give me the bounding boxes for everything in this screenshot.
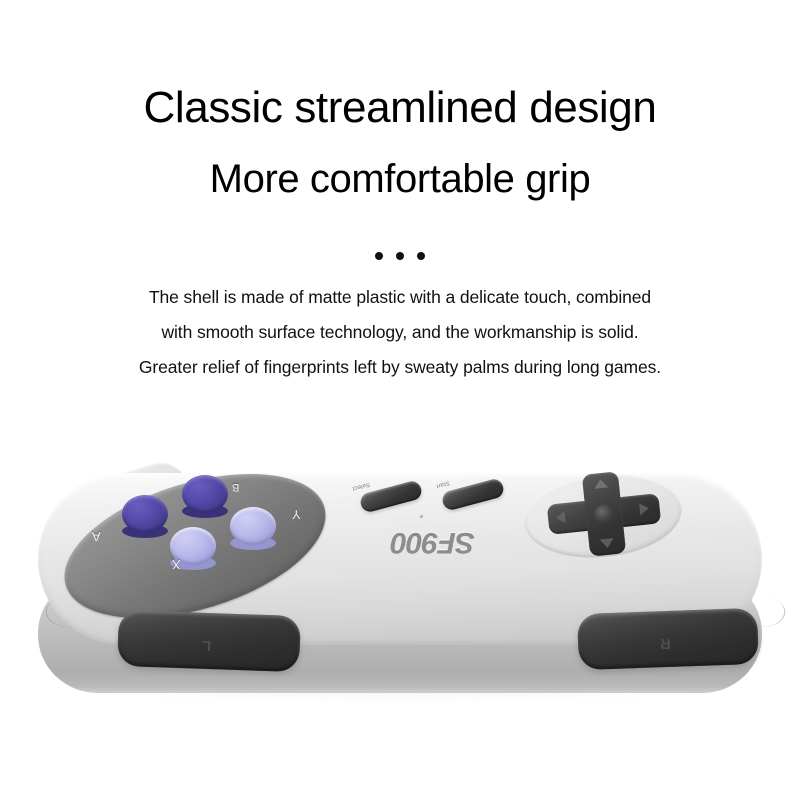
face-button-label-y: Y <box>292 507 301 522</box>
controller-product-image: A B X Y Select Start SF900 L R <box>30 455 770 715</box>
separator-dot <box>375 252 383 260</box>
body-copy: The shell is made of matte plastic with … <box>0 286 800 391</box>
headline-secondary: More comfortable grip <box>0 155 800 203</box>
button-cap <box>230 507 276 545</box>
led-indicator <box>420 515 423 518</box>
body-line: The shell is made of matte plastic with … <box>0 286 800 309</box>
dpad-down-icon[interactable] <box>600 538 615 548</box>
brand-logo-text: SF900 <box>391 526 474 559</box>
dpad-right-icon[interactable] <box>639 502 649 515</box>
face-button-b[interactable] <box>182 475 228 513</box>
face-button-a[interactable] <box>122 495 168 533</box>
face-button-label-x: X <box>172 557 181 572</box>
button-cap <box>122 495 168 533</box>
face-button-label-b: B <box>232 481 239 493</box>
shoulder-button-label-l: L <box>202 637 211 654</box>
dpad-up-icon[interactable] <box>593 478 608 488</box>
body-line: Greater relief of fingerprints left by s… <box>0 356 800 379</box>
promo-page: Classic streamlined design More comforta… <box>0 0 800 800</box>
body-line: with smooth surface technology, and the … <box>0 321 800 344</box>
separator-dot <box>417 252 425 260</box>
separator-dot <box>396 252 404 260</box>
dpad-left-icon[interactable] <box>556 511 566 524</box>
face-button-y[interactable] <box>230 507 276 545</box>
shoulder-button-label-r: R <box>660 635 671 652</box>
face-button-label-a: A <box>92 529 101 544</box>
button-cap <box>182 475 228 513</box>
dpad[interactable] <box>544 467 664 560</box>
brand-logo: SF900 <box>348 525 518 559</box>
headline-primary: Classic streamlined design <box>0 82 800 134</box>
dot-separator <box>0 252 800 260</box>
